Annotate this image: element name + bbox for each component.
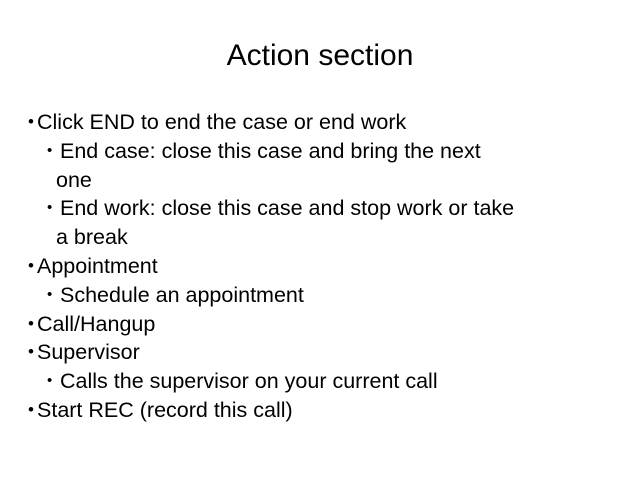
list-item-label: one bbox=[56, 166, 92, 195]
list-item: • Calls the supervisor on your current c… bbox=[28, 367, 618, 396]
bullet-icon: • bbox=[28, 310, 37, 339]
list-item: • Call/Hangup bbox=[28, 310, 618, 339]
list-item-label: Start REC (record this call) bbox=[37, 396, 293, 425]
bullet-icon: • bbox=[47, 137, 60, 166]
list-item-label: Click END to end the case or end work bbox=[37, 108, 406, 137]
list-item: • End case: close this case and bring th… bbox=[28, 137, 618, 166]
list-item-label: Call/Hangup bbox=[37, 310, 155, 339]
list-item: • Schedule an appointment bbox=[28, 281, 618, 310]
list-item-continuation: a break bbox=[28, 223, 618, 252]
list-item-continuation: one bbox=[28, 166, 618, 195]
bullet-icon: • bbox=[47, 281, 60, 310]
list-item: • Appointment bbox=[28, 252, 618, 281]
slide: Action section • Click END to end the ca… bbox=[0, 0, 640, 480]
bullet-icon: • bbox=[47, 367, 60, 396]
list-item-label: End case: close this case and bring the … bbox=[60, 137, 481, 166]
list-item-label: a break bbox=[56, 223, 128, 252]
bullet-icon: • bbox=[47, 194, 60, 223]
bullet-icon: • bbox=[28, 396, 37, 425]
bullet-icon: • bbox=[28, 108, 37, 137]
list-item: • Supervisor bbox=[28, 338, 618, 367]
list-item: • Click END to end the case or end work bbox=[28, 108, 618, 137]
list-item-label: Supervisor bbox=[37, 338, 140, 367]
page-title: Action section bbox=[0, 38, 640, 74]
list-item-label: Appointment bbox=[37, 252, 158, 281]
list-item-label: Calls the supervisor on your current cal… bbox=[60, 367, 438, 396]
list-item: • Start REC (record this call) bbox=[28, 396, 618, 425]
bullet-icon: • bbox=[28, 252, 37, 281]
list-item-label: Schedule an appointment bbox=[60, 281, 304, 310]
bullet-list: • Click END to end the case or end work … bbox=[28, 108, 618, 425]
bullet-icon: • bbox=[28, 338, 37, 367]
list-item-label: End work: close this case and stop work … bbox=[60, 194, 514, 223]
list-item: • End work: close this case and stop wor… bbox=[28, 194, 618, 223]
